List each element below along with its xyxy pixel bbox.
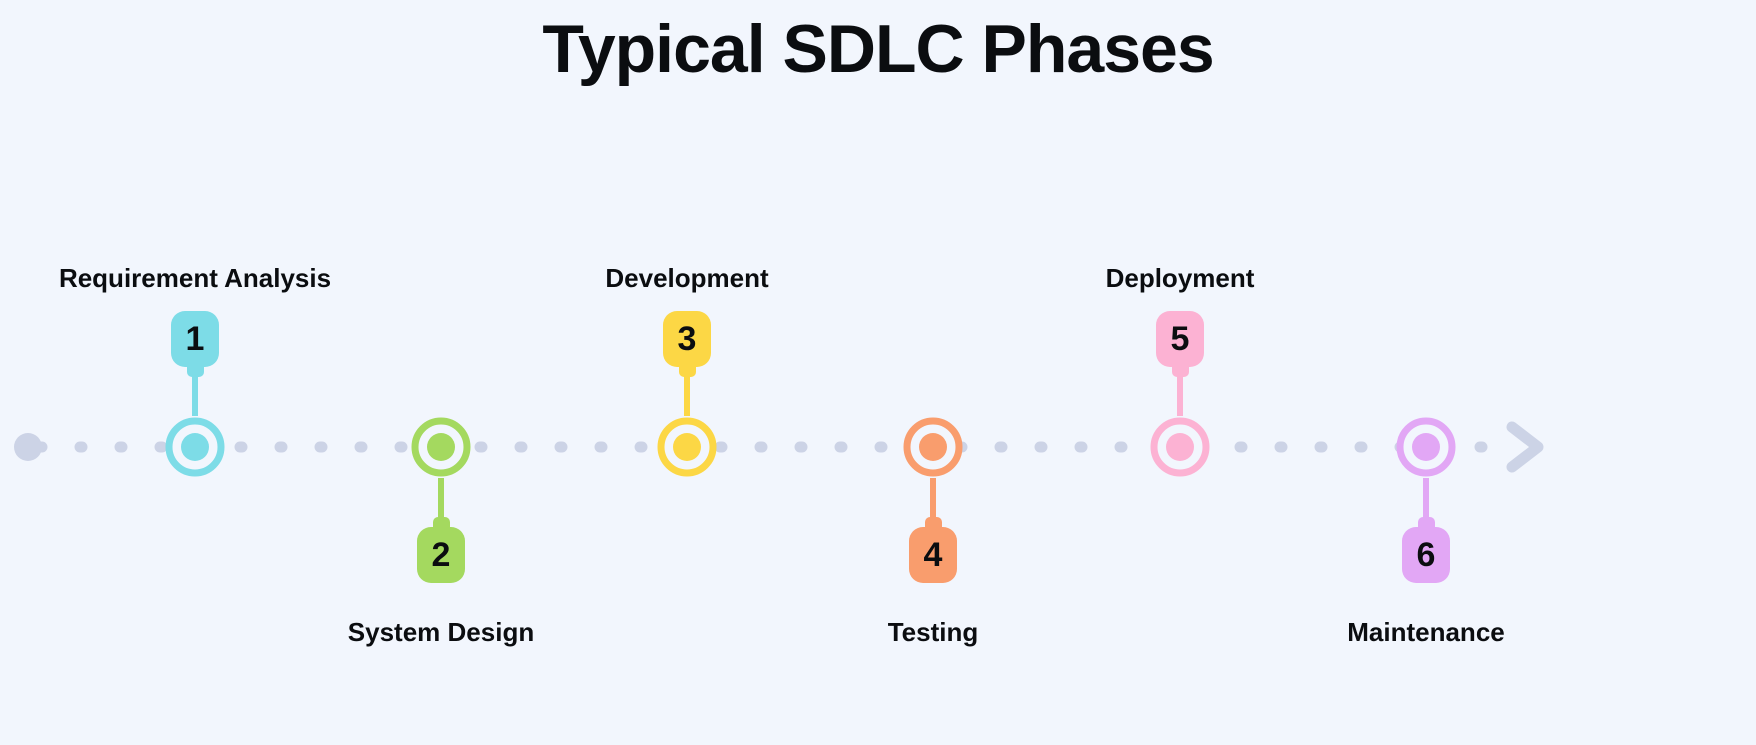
phase-number-text: 3 <box>678 320 697 359</box>
phase-marker-dot[interactable] <box>1412 433 1440 461</box>
phase-marker-dot[interactable] <box>1166 433 1194 461</box>
phase-marker-dot[interactable] <box>673 433 701 461</box>
phase-label: Testing <box>888 617 979 648</box>
phase-marker-dot[interactable] <box>181 433 209 461</box>
arrow-right-icon <box>1512 427 1538 467</box>
phase-number-text: 6 <box>1417 536 1436 575</box>
phase-label: Development <box>605 263 768 294</box>
phase-label: Maintenance <box>1347 617 1505 648</box>
phase-number-badge[interactable]: 6 <box>1402 527 1450 583</box>
badge-stem <box>433 517 450 531</box>
timeline-infographic: Typical SDLC Phases 1Requirement Analysi… <box>0 0 1756 745</box>
phase-number-badge[interactable]: 3 <box>663 311 711 367</box>
phase-marker-dot[interactable] <box>427 433 455 461</box>
badge-stem <box>1172 363 1189 377</box>
phase-label: Deployment <box>1106 263 1255 294</box>
phase-number-badge[interactable]: 1 <box>171 311 219 367</box>
badge-stem <box>679 363 696 377</box>
phase-number-text: 2 <box>432 536 451 575</box>
badge-stem <box>925 517 942 531</box>
phase-label: Requirement Analysis <box>59 263 331 294</box>
phase-marker-dot[interactable] <box>919 433 947 461</box>
badge-stem <box>1418 517 1435 531</box>
badge-stem <box>187 363 204 377</box>
phase-number-badge[interactable]: 2 <box>417 527 465 583</box>
phase-number-text: 5 <box>1171 320 1190 359</box>
phase-number-badge[interactable]: 4 <box>909 527 957 583</box>
phase-number-text: 4 <box>924 536 943 575</box>
start-dot <box>14 433 42 461</box>
phase-number-badge[interactable]: 5 <box>1156 311 1204 367</box>
phase-number-text: 1 <box>186 320 205 359</box>
phase-label: System Design <box>348 617 534 648</box>
